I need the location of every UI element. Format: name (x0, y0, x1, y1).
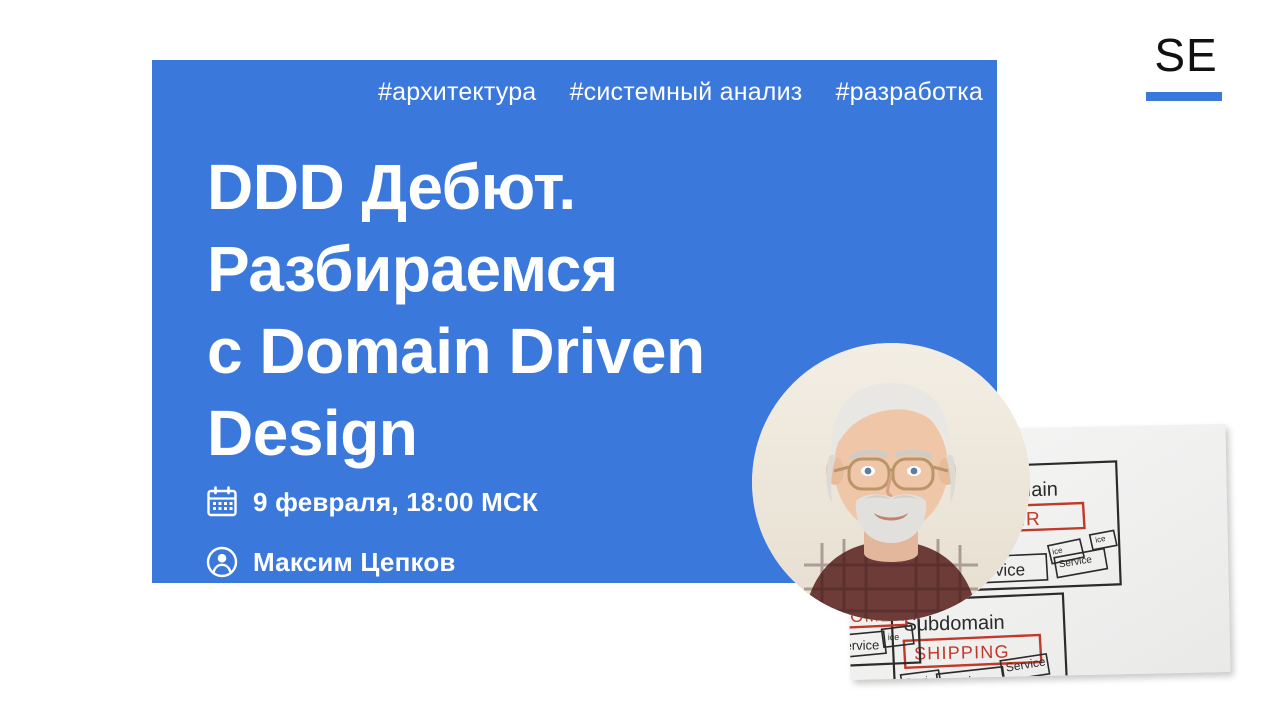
sketch-note-label: Servi (905, 675, 929, 680)
event-speaker-row: Максим Цепков (205, 538, 805, 586)
sketch-note-label: ice (888, 632, 900, 642)
hashtag-system-analysis[interactable]: #системный анализ (570, 78, 803, 106)
sketch-note-label: ice (1094, 534, 1106, 545)
se-logo: SE (1146, 28, 1226, 101)
logo-underline-bar (1146, 92, 1222, 101)
title-line-1: DDD Дебют. (207, 146, 927, 228)
hashtag-architecture[interactable]: #архитектура (378, 78, 536, 106)
speaker-portrait-illustration (752, 343, 1030, 621)
event-date-row: 9 февраля, 18:00 МСК (205, 478, 805, 526)
event-speaker-label: Максим Цепков (253, 547, 456, 578)
sketch-note-label: Service (1005, 654, 1047, 674)
sketch-note-label: ice (1051, 545, 1064, 556)
calendar-icon (205, 485, 239, 519)
title-line-2: Разбираемся (207, 228, 927, 310)
logo-text: SE (1146, 28, 1226, 82)
event-meta: 9 февраля, 18:00 МСК Максим Цепков (205, 478, 805, 586)
promo-banner: SE #архитектура #системный анализ #разра… (0, 0, 1280, 720)
speaker-avatar (752, 343, 1030, 621)
person-icon (205, 545, 239, 579)
sketch-shipping-name: SHIPPING (914, 642, 1010, 664)
event-date-label: 9 февраля, 18:00 МСК (253, 487, 538, 518)
sketch-note-label: Service (845, 637, 879, 653)
hashtag-development[interactable]: #разработка (836, 78, 983, 106)
hashtag-row: #архитектура #системный анализ #разработ… (378, 78, 983, 107)
